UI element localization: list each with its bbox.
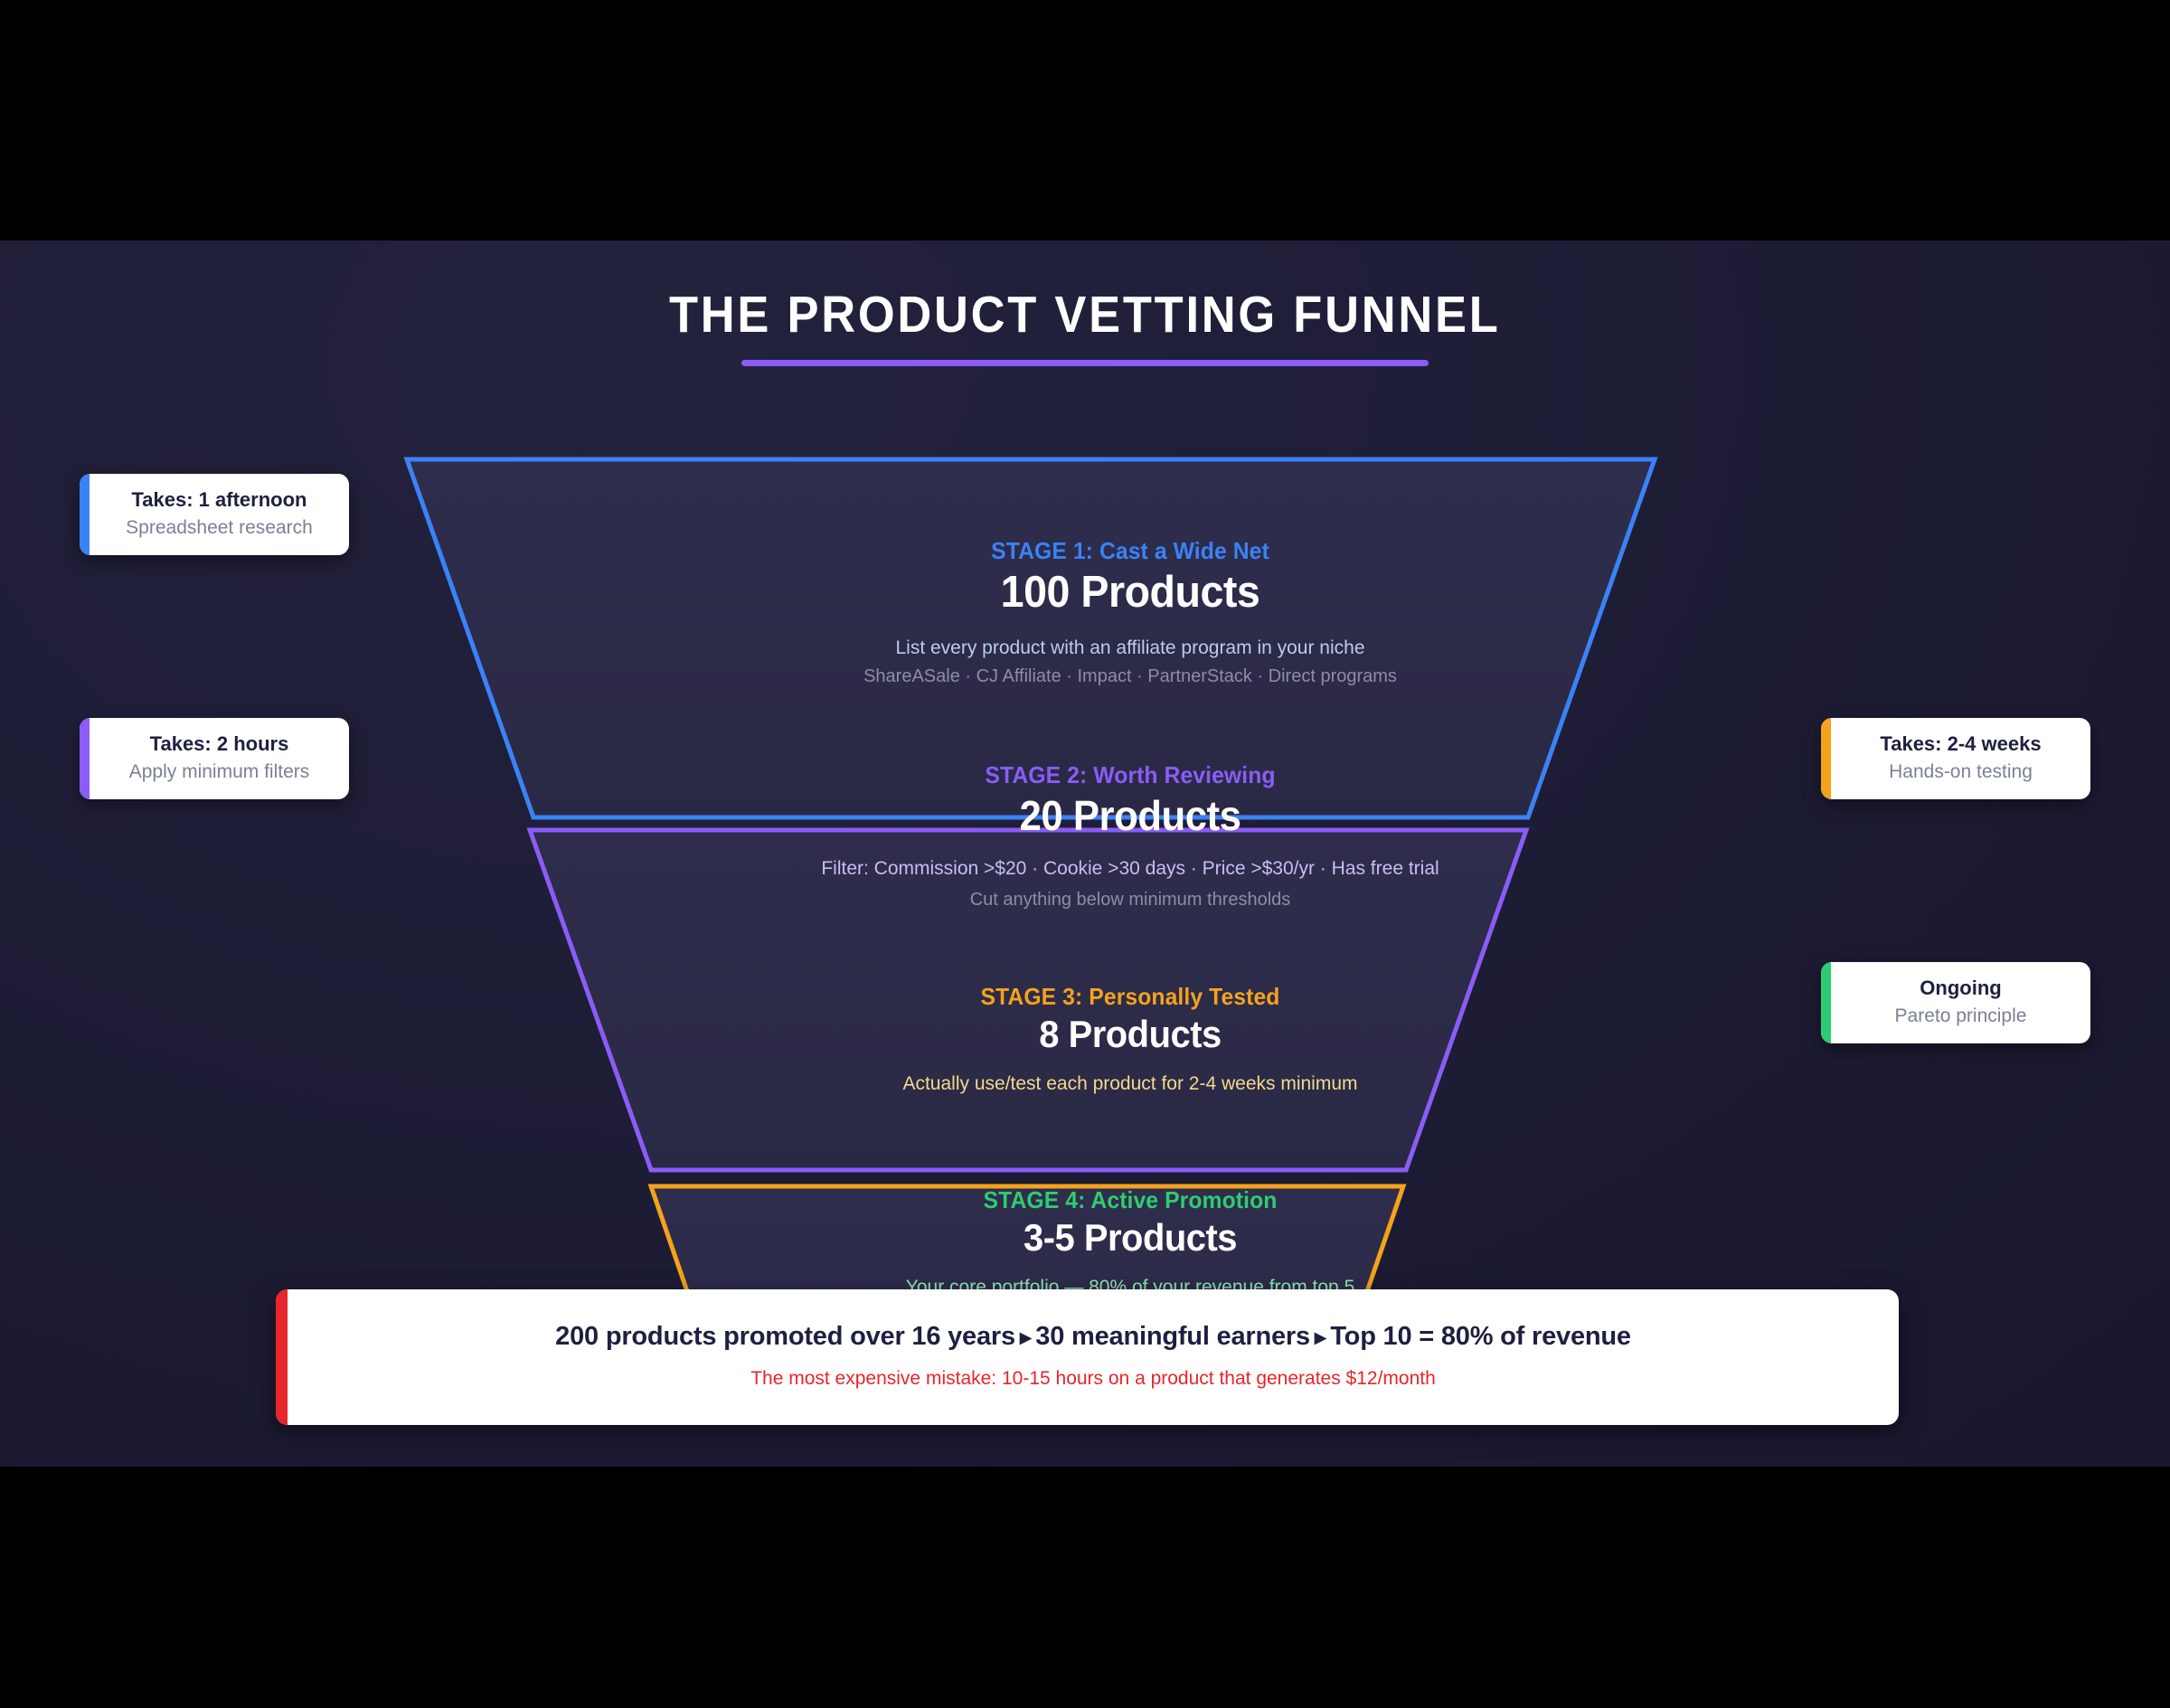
badge-subtitle: Hands-on testing [1849,760,2072,784]
page-title: THE PRODUCT VETTING FUNNEL [669,288,1501,342]
badge-body: Takes: 2 hours Apply minimum filters [90,718,349,799]
funnel-shapes [362,438,1899,1351]
summary-part-3: Top 10 = 80% of revenue [1330,1322,1631,1351]
badge-subtitle: Spreadsheet research [108,515,331,540]
badge-body: Ongoing Pareto principle [1831,962,2090,1043]
badge-stage-1[interactable]: Takes: 1 afternoon Spreadsheet research [80,474,349,555]
funnel-segment-stage-2[interactable] [530,830,1526,1170]
summary-warning: The most expensive mistake: 10-15 hours … [750,1368,1436,1390]
title-underline-rule [741,360,1429,366]
badge-accent-bar [80,718,90,799]
chevron-right-icon: ▸ [1310,1325,1330,1350]
infographic-canvas: THE PRODUCT VETTING FUNNEL [0,0,2170,1708]
chevron-right-icon: ▸ [1015,1325,1035,1350]
funnel-diagram: STAGE 1: Cast a Wide Net 100 Products Li… [362,438,1899,1351]
badge-title: Takes: 2 hours [108,732,331,757]
badge-title: Takes: 2-4 weeks [1849,732,2072,757]
badge-subtitle: Apply minimum filters [108,760,331,784]
content-area: THE PRODUCT VETTING FUNNEL [0,241,2170,1467]
badge-stage-2[interactable]: Takes: 2 hours Apply minimum filters [80,718,349,799]
badge-accent-bar [1821,718,1831,799]
badge-stage-3[interactable]: Takes: 2-4 weeks Hands-on testing [1821,718,2090,799]
summary-accent-bar [276,1289,288,1425]
badge-title: Takes: 1 afternoon [108,488,331,513]
badge-accent-bar [80,474,90,555]
summary-part-1: 200 products promoted over 16 years [555,1322,1015,1351]
summary-headline: 200 products promoted over 16 years▸30 m… [555,1322,1631,1352]
badge-body: Takes: 1 afternoon Spreadsheet research [90,474,349,555]
badge-stage-4[interactable]: Ongoing Pareto principle [1821,962,2090,1043]
badge-accent-bar [1821,962,1831,1043]
summary-body: 200 products promoted over 16 years▸30 m… [288,1289,1899,1425]
badge-body: Takes: 2-4 weeks Hands-on testing [1831,718,2090,799]
funnel-segment-stage-1[interactable] [407,459,1655,817]
badge-subtitle: Pareto principle [1849,1004,2072,1028]
summary-part-2: 30 meaningful earners [1035,1322,1310,1351]
title-block: THE PRODUCT VETTING FUNNEL [0,288,2170,366]
summary-bar[interactable]: 200 products promoted over 16 years▸30 m… [276,1289,1899,1425]
badge-title: Ongoing [1849,977,2072,1001]
